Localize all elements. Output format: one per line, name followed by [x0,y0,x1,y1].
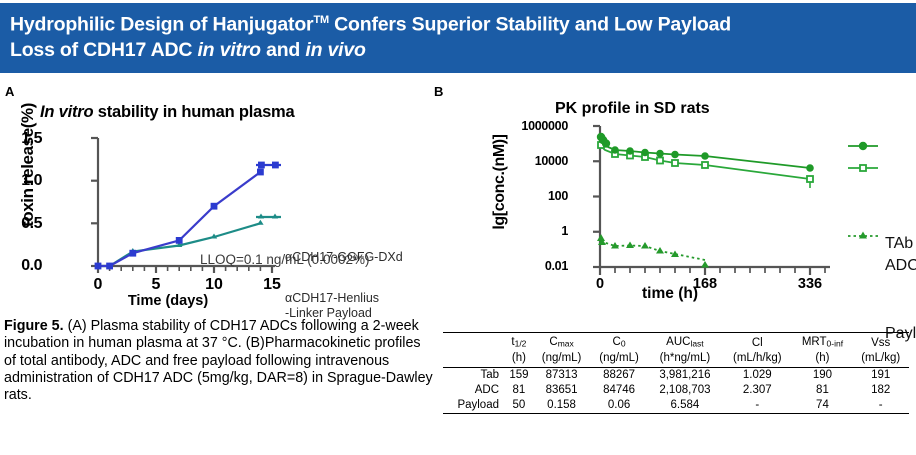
table-cell-tab-auclast: 3,981,216 [648,368,722,384]
title-line2-italic2: in vivo [305,39,365,61]
table-units-mrt: (h) [793,351,853,366]
table-header-thalf: t1/2 [505,335,533,351]
table-cell-tab-c0: 88267 [590,368,647,384]
table-header-cl: Cl [722,335,792,351]
panel-b-x-major-ticks [600,267,810,275]
table-cell-payload-thalf: 50 [505,398,533,414]
table-row: Tab 159 87313 88267 3,981,216 1.029 190 … [443,368,909,384]
panel-b-legend-key-adc [848,165,878,171]
table-cell-payload-auclast: 6.584 [648,398,722,414]
table-units-cmax: (ng/mL) [533,351,590,366]
table-cell-adc-cl: 2.307 [722,383,792,398]
table-header-row-1: t1/2 Cmax C0 AUClast Cl MRT0-inf Vss [443,335,909,351]
table-header-row-2: (h) (ng/mL) (ng/mL) (h*ng/mL) (mL/h/kg) … [443,351,909,366]
table-cell-tab-thalf: 159 [505,368,533,384]
panel-a-lloq-annotation: LLOQ=0.1 ng/mL (0.0002%) [200,252,369,267]
panel-a-legend-key-henlius [256,214,281,219]
panel-b-legend-tab: TAb [885,235,913,253]
table-header-auclast-sub: last [690,338,703,348]
panel-a-legend-henlius: αCDH17-Henlius -Linker Payload [285,291,379,320]
table-cell-tab-cmax: 87313 [533,368,590,384]
table-units-c0: (ng/mL) [590,351,647,366]
panel-a-chart: In vitro stability in human plasma toxin… [0,95,440,310]
page-title: Hydrophilic Design of HanjugatorTM Confe… [10,8,906,63]
table-header-cmax-sub: max [558,338,574,348]
table-units-thalf: (h) [505,351,533,366]
table-cell-adc-c0: 84746 [590,383,647,398]
table-cell-tab-vss: 191 [852,368,909,384]
table-cell-payload-vss: - [852,398,909,414]
table-cell-adc-vss: 182 [852,383,909,398]
table-cell-adc-auclast: 2,108,703 [648,383,722,398]
table-units-corner [443,351,505,366]
title-line2-italic1: in vitro [197,39,260,61]
figure-caption-label: Figure 5. [4,318,64,334]
table-cell-adc-cmax: 83651 [533,383,590,398]
panel-b-series-payload-line [601,240,705,260]
table-units-vss: (mL/kg) [852,351,909,366]
title-line1-part1: Hydrophilic Design of Hanjugator [10,14,313,36]
panel-a-legend-key-ggfg [256,162,281,169]
title-line2-part1: Loss of CDH17 ADC [10,39,197,61]
table-cell-adc-mrt: 81 [793,383,853,398]
table-cell-payload-mrt: 74 [793,398,853,414]
table-header-c0-sub: 0 [621,338,626,348]
table-cell-payload-c0: 0.06 [590,398,647,414]
title-line2-mid: and [261,39,306,61]
table-row-label-payload: Payload [443,398,505,414]
table-header-mrt: MRT0-inf [793,335,853,351]
panel-b-legend-adc: ADC [885,257,916,275]
table-units-auclast: (h*ng/mL) [648,351,722,366]
figure-caption: Figure 5. (A) Plasma stability of CDH17 … [4,318,434,404]
table-cell-tab-cl: 1.029 [722,368,792,384]
table-row-label-adc: ADC [443,383,505,398]
table-corner-cell [443,335,505,351]
table-header-auclast: AUClast [648,335,722,351]
panel-a-plot-area [0,95,440,310]
header-banner: Hydrophilic Design of HanjugatorTM Confe… [0,3,916,73]
title-line1-part2: Confers Superior Stability and Low Paylo… [329,14,731,36]
table-units-cl: (mL/h/kg) [722,351,792,366]
table-header-vss: Vss [852,335,909,351]
table-cell-adc-thalf: 81 [505,383,533,398]
panel-b-chart: PK profile in SD rats lg[conc.(nM)] time… [430,95,916,310]
panel-b-legend-key-tab [848,142,878,150]
figure-caption-text: (A) Plasma stability of CDH17 ADCs follo… [4,318,433,403]
trademark-symbol: TM [313,14,328,26]
panel-b-legend-key-payload [848,232,878,239]
table-row: ADC 81 83651 84746 2,108,703 2.307 81 18… [443,383,909,398]
panel-b-series-payload-markers [597,234,709,268]
table-cell-tab-mrt: 190 [793,368,853,384]
table-cell-payload-cmax: 0.158 [533,398,590,414]
table-cell-payload-cl: - [722,398,792,414]
table-bottom-rule [443,414,909,417]
table-row: Payload 50 0.158 0.06 6.584 - 74 - [443,398,909,414]
panel-a-legend-henlius-line1: αCDH17-Henlius [285,291,379,305]
table-header-cmax: Cmax [533,335,590,351]
table-header-thalf-sub: 1/2 [515,338,527,348]
table-row-label-tab: Tab [443,368,505,384]
table-header-c0: C0 [590,335,647,351]
table-header-mrt-sub: 0-inf [827,338,844,348]
pk-parameters-table: t1/2 Cmax C0 AUClast Cl MRT0-inf Vss (h)… [443,332,909,416]
panel-b-plot-area [430,95,916,310]
